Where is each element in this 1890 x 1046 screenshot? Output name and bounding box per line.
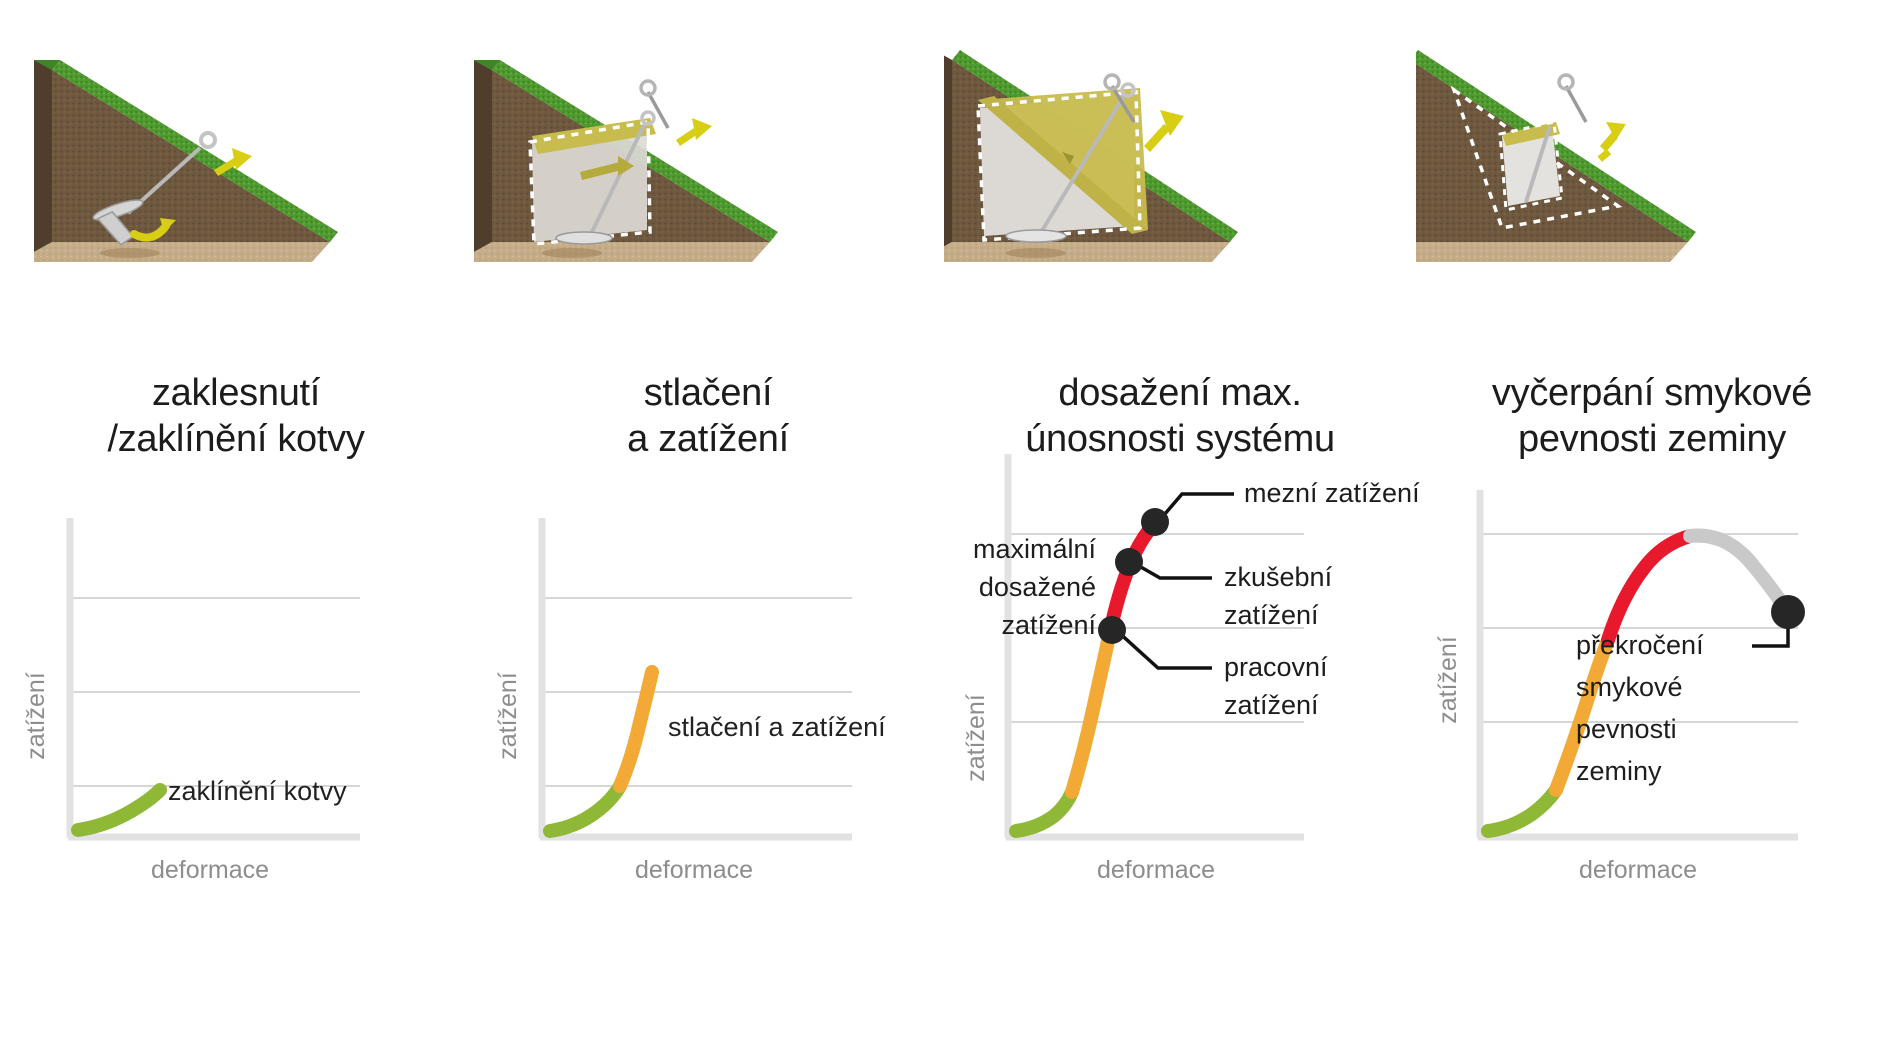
callout-mezni-zatizeni: mezní zatížení (1244, 478, 1420, 508)
marker-end-point (1771, 595, 1805, 629)
figure-root: zaklesnutí /zaklínění kotvy (0, 0, 1890, 1046)
panel-2-caption: stlačení a zatížení (472, 370, 944, 463)
curve-red-segment (1110, 524, 1154, 632)
chart-2-xlabel: deformace (635, 856, 753, 884)
leader-zkusebni (1132, 562, 1212, 578)
panel-3-caption-line2: únosnosti systému (944, 416, 1416, 462)
illustration-row: zaklesnutí /zaklínění kotvy (0, 0, 1890, 500)
callout-pracovni-line1: pracovní (1224, 652, 1328, 682)
chart-2: zatížení deformace stlačení a zatížení (472, 500, 944, 1046)
chart-3-side-label-line3: zatížení (1001, 610, 1096, 640)
curve-green-segment (550, 786, 620, 831)
callout-prekroceni-line1: překročení (1576, 630, 1704, 660)
chart-2-curve-label: stlačení a zatížení (668, 712, 886, 742)
chart-2-ylabel: zatížení (494, 672, 522, 760)
curve-green-segment (1016, 792, 1072, 831)
anchor-compression-loading-illustration (472, 30, 944, 280)
curve-green-segment (78, 790, 160, 830)
anchor-engaging-illustration (0, 30, 472, 280)
panel-4-caption-line2: pevnosti zeminy (1416, 416, 1888, 462)
callout-zkusebni-line1: zkušební (1224, 562, 1333, 592)
panel-4: vyčerpání smykové pevnosti zeminy (1416, 0, 1888, 500)
chart-4: překročení smykové pevnosti zeminy zatíž… (1416, 500, 1888, 1046)
chart-1-ylabel: zatížení (22, 672, 50, 760)
panel-3-caption: dosažení max. únosnosti systému (944, 370, 1416, 463)
curve-orange-segment (1072, 632, 1110, 792)
callout-zkusebni-line2: zatížení (1224, 600, 1319, 630)
anchor-max-capacity-illustration (944, 30, 1416, 280)
leader-pracovni (1116, 630, 1212, 668)
marker-pracovni-zatizeni (1098, 616, 1126, 644)
callout-pracovni-line2: zatížení (1224, 690, 1319, 720)
chart-1-xlabel: deformace (151, 856, 269, 884)
chart-3: maximální dosažené zatížení mezní zatíže… (944, 500, 1416, 1046)
curve-grey-segment (1690, 536, 1788, 612)
curve-red-segment (1608, 536, 1690, 640)
panel-2-caption-line2: a zatížení (472, 416, 944, 462)
chart-3-side-label-line1: maximální (973, 534, 1097, 564)
chart-3-side-label-line2: dosažené (979, 572, 1096, 602)
panel-3-caption-line1: dosažení max. (944, 370, 1416, 416)
chart-4-ylabel: zatížení (1434, 636, 1462, 724)
chart-3-ylabel: zatížení (962, 694, 990, 782)
chart-4-xlabel: deformace (1579, 856, 1697, 884)
curve-orange-segment (620, 672, 652, 786)
callout-prekroceni-line3: pevnosti (1576, 714, 1677, 744)
panel-1-caption: zaklesnutí /zaklínění kotvy (0, 370, 472, 463)
chart-1-curve-label: zaklínění kotvy (168, 776, 347, 806)
callout-prekroceni-line2: smykové (1576, 672, 1683, 702)
panel-1: zaklesnutí /zaklínění kotvy (0, 0, 472, 500)
panel-2: stlačení a zatížení (472, 0, 944, 500)
soil-shear-failure-illustration (1416, 30, 1888, 280)
panel-3: dosažení max. únosnosti systému (944, 0, 1416, 500)
panel-4-caption: vyčerpání smykové pevnosti zeminy (1416, 370, 1888, 463)
callout-prekroceni-line4: zeminy (1576, 756, 1662, 786)
panel-2-caption-line1: stlačení (472, 370, 944, 416)
chart-row: zatížení deformace zaklínění kotvy zatíž… (0, 500, 1890, 1046)
curve-green-segment (1488, 790, 1556, 831)
marker-mezni-zatizeni (1141, 508, 1169, 536)
panel-4-caption-line1: vyčerpání smykové (1416, 370, 1888, 416)
chart-3-xlabel: deformace (1097, 856, 1215, 884)
marker-zkusebni-zatizeni (1115, 548, 1143, 576)
chart-1: zatížení deformace zaklínění kotvy (0, 500, 472, 1046)
panel-1-caption-line2: /zaklínění kotvy (0, 416, 472, 462)
panel-1-caption-line1: zaklesnutí (0, 370, 472, 416)
